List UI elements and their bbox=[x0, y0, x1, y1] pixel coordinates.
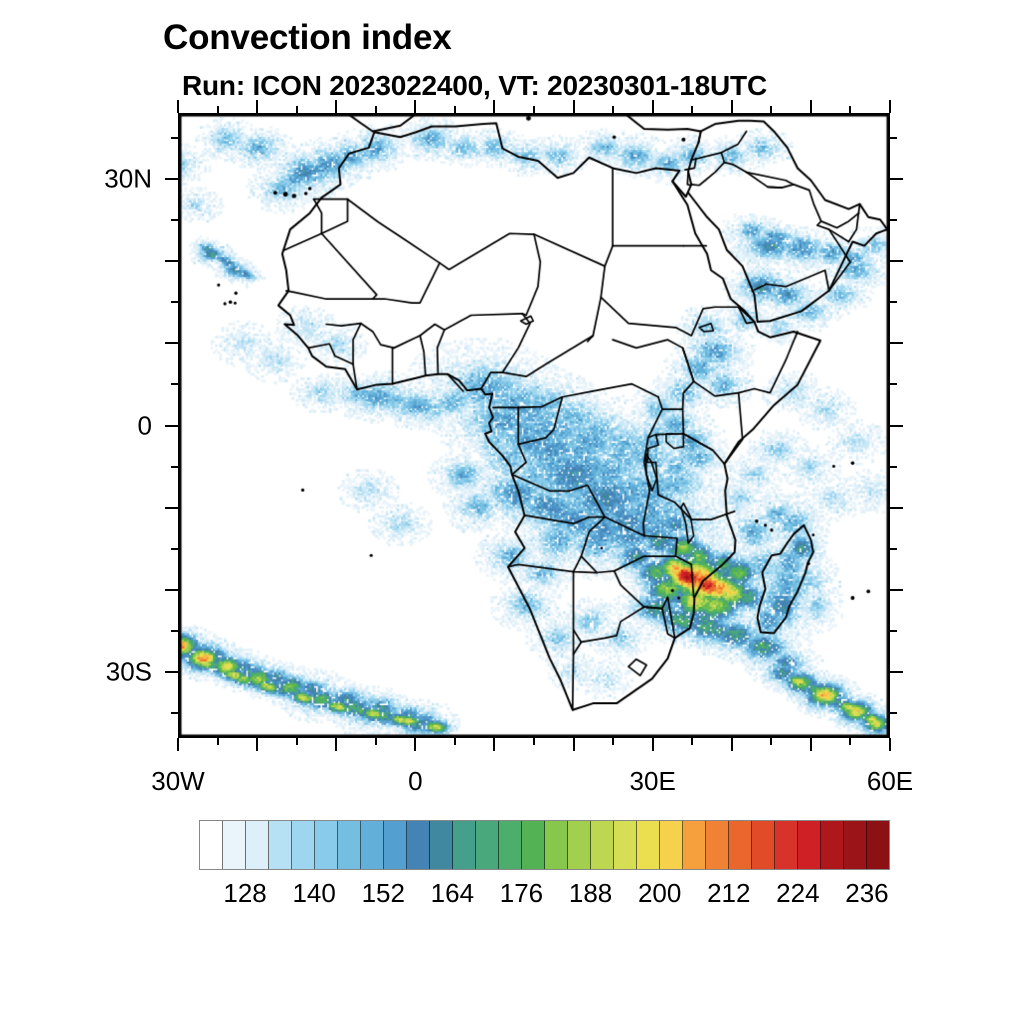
axis-tick bbox=[171, 301, 178, 303]
colorbar-cell bbox=[246, 821, 269, 869]
axis-tick bbox=[171, 219, 178, 221]
colorbar-cell bbox=[407, 821, 430, 869]
y-axis-label-2: 30S bbox=[0, 657, 152, 688]
axis-tick bbox=[889, 100, 891, 113]
axis-tick bbox=[612, 106, 614, 113]
axis-tick bbox=[171, 712, 178, 714]
colorbar-cell bbox=[361, 821, 384, 869]
axis-tick bbox=[849, 738, 851, 745]
map-plot-area bbox=[178, 113, 890, 738]
colorbar-cell bbox=[798, 821, 821, 869]
colorbar-cell bbox=[729, 821, 752, 869]
axis-tick bbox=[652, 738, 654, 751]
axis-tick bbox=[890, 466, 897, 468]
axis-tick bbox=[890, 671, 903, 673]
axis-tick bbox=[217, 106, 219, 113]
x-axis-label-2: 30E bbox=[630, 766, 676, 797]
axis-tick bbox=[493, 100, 495, 113]
colorbar-tick-label-4: 176 bbox=[500, 878, 543, 909]
axis-tick bbox=[171, 383, 178, 385]
axis-tick bbox=[171, 137, 178, 139]
colorbar-tick-label-5: 188 bbox=[569, 878, 612, 909]
axis-tick bbox=[810, 738, 812, 751]
colorbar-tick-label-8: 224 bbox=[776, 878, 819, 909]
axis-tick bbox=[165, 507, 178, 509]
axis-tick bbox=[165, 425, 178, 427]
axis-tick bbox=[890, 137, 897, 139]
axis-tick bbox=[890, 178, 903, 180]
colorbar-cell bbox=[315, 821, 338, 869]
colorbar-cell bbox=[338, 821, 361, 869]
colorbar-cell bbox=[476, 821, 499, 869]
colorbar-cell bbox=[591, 821, 614, 869]
axis-tick bbox=[165, 260, 178, 262]
axis-tick bbox=[165, 178, 178, 180]
colorbar-cell bbox=[223, 821, 246, 869]
colorbar-cell bbox=[200, 821, 223, 869]
axis-tick bbox=[165, 342, 178, 344]
axis-tick bbox=[691, 106, 693, 113]
axis-tick bbox=[573, 738, 575, 751]
colorbar-tick-label-7: 212 bbox=[707, 878, 750, 909]
axis-tick bbox=[890, 425, 903, 427]
colorbar-cell bbox=[821, 821, 844, 869]
colorbar-cell bbox=[614, 821, 637, 869]
axis-tick bbox=[890, 630, 897, 632]
axis-tick bbox=[414, 738, 416, 751]
axis-tick bbox=[335, 100, 337, 113]
colorbar-cell bbox=[568, 821, 591, 869]
axis-tick bbox=[335, 738, 337, 751]
axis-tick bbox=[256, 100, 258, 113]
colorbar-cell bbox=[752, 821, 775, 869]
axis-tick bbox=[165, 589, 178, 591]
axis-tick bbox=[296, 106, 298, 113]
axis-tick bbox=[375, 738, 377, 745]
x-axis-label-0: 30W bbox=[151, 766, 204, 797]
axis-tick bbox=[652, 100, 654, 113]
colorbar-cell bbox=[269, 821, 292, 869]
x-axis-label-3: 60E bbox=[867, 766, 913, 797]
axis-tick bbox=[890, 301, 897, 303]
colorbar bbox=[199, 820, 890, 870]
axis-tick bbox=[296, 738, 298, 745]
colorbar-tick-label-0: 128 bbox=[223, 878, 266, 909]
axis-tick bbox=[454, 738, 456, 745]
axis-tick bbox=[533, 106, 535, 113]
axis-tick bbox=[890, 260, 903, 262]
axis-tick bbox=[171, 630, 178, 632]
colorbar-cell bbox=[453, 821, 476, 869]
colorbar-cell bbox=[545, 821, 568, 869]
axis-tick bbox=[691, 738, 693, 745]
colorbar-cell bbox=[867, 821, 889, 869]
colorbar-cell bbox=[775, 821, 798, 869]
chart-subtitle: Run: ICON 2023022400, VT: 20230301-18UTC bbox=[182, 70, 767, 102]
x-axis-label-1: 0 bbox=[408, 766, 422, 797]
colorbar-cell bbox=[430, 821, 453, 869]
axis-tick bbox=[177, 100, 179, 113]
colorbar-tick-label-2: 152 bbox=[362, 878, 405, 909]
axis-tick bbox=[454, 106, 456, 113]
axis-tick bbox=[731, 100, 733, 113]
colorbar-cell bbox=[499, 821, 522, 869]
colorbar-cell bbox=[522, 821, 545, 869]
axis-tick bbox=[256, 738, 258, 751]
axis-tick bbox=[533, 738, 535, 745]
chart-title: Convection index bbox=[163, 18, 452, 58]
colorbar-tick-label-9: 236 bbox=[845, 878, 888, 909]
axis-tick bbox=[890, 712, 897, 714]
axis-tick bbox=[493, 738, 495, 751]
y-axis-label-0: 30N bbox=[0, 163, 152, 194]
axis-tick bbox=[573, 100, 575, 113]
axis-tick bbox=[890, 589, 903, 591]
axis-tick bbox=[612, 738, 614, 745]
colorbar-cell bbox=[384, 821, 407, 869]
colorbar-cell bbox=[292, 821, 315, 869]
axis-tick bbox=[890, 383, 897, 385]
axis-tick bbox=[731, 738, 733, 751]
axis-tick bbox=[171, 548, 178, 550]
axis-tick bbox=[890, 219, 897, 221]
axis-tick bbox=[171, 466, 178, 468]
colorbar-cell bbox=[660, 821, 683, 869]
axis-tick bbox=[217, 738, 219, 745]
colorbar-tick-label-6: 200 bbox=[638, 878, 681, 909]
colorbar-cell bbox=[844, 821, 867, 869]
colorbar-tick-label-3: 164 bbox=[431, 878, 474, 909]
axis-tick bbox=[375, 106, 377, 113]
colorbar-tick-labels: 128140152164176188200212224236 bbox=[0, 878, 1024, 912]
axis-tick bbox=[849, 106, 851, 113]
convection-index-heatmap bbox=[180, 115, 888, 736]
axis-tick bbox=[890, 548, 897, 550]
colorbar-cell bbox=[706, 821, 729, 869]
colorbar-cell bbox=[637, 821, 660, 869]
axis-tick bbox=[889, 738, 891, 751]
axis-tick bbox=[177, 738, 179, 751]
colorbar-cell bbox=[683, 821, 706, 869]
colorbar-tick-label-1: 140 bbox=[292, 878, 335, 909]
axis-tick bbox=[890, 342, 903, 344]
axis-tick bbox=[770, 106, 772, 113]
axis-tick bbox=[810, 100, 812, 113]
axis-tick bbox=[414, 100, 416, 113]
axis-tick bbox=[890, 507, 903, 509]
axis-tick bbox=[165, 671, 178, 673]
y-axis-label-1: 0 bbox=[0, 410, 152, 441]
axis-tick bbox=[770, 738, 772, 745]
